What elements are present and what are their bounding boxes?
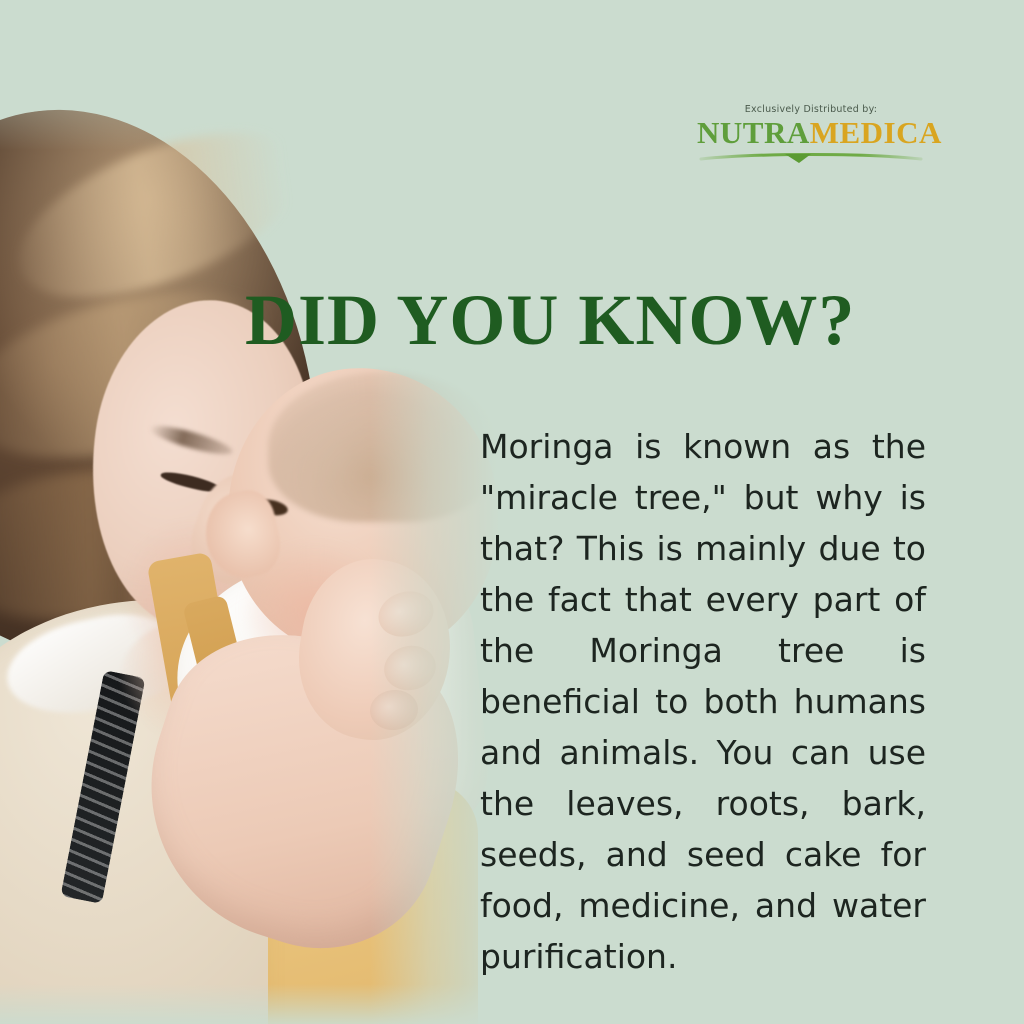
logo-wordmark-medica: MEDICA — [810, 115, 942, 150]
photo-container — [0, 0, 500, 1024]
mother-and-baby-photo — [0, 0, 500, 1024]
baby-hair — [268, 372, 498, 522]
page-title: DID YOU KNOW? — [245, 284, 945, 356]
logo-tagline: Exclusively Distributed by: — [697, 104, 925, 115]
left-arrow-swoosh-icon — [699, 149, 923, 163]
body-paragraph: Moringa is known as the "miracle tree," … — [480, 421, 926, 982]
logo-wordmark: NUTRAMEDICA — [697, 117, 925, 148]
poster-canvas: Exclusively Distributed by: NUTRAMEDICA … — [0, 0, 1024, 1024]
logo-wordmark-nutra: NUTRA — [697, 115, 810, 150]
nutramedica-logo: Exclusively Distributed by: NUTRAMEDICA — [697, 104, 925, 163]
